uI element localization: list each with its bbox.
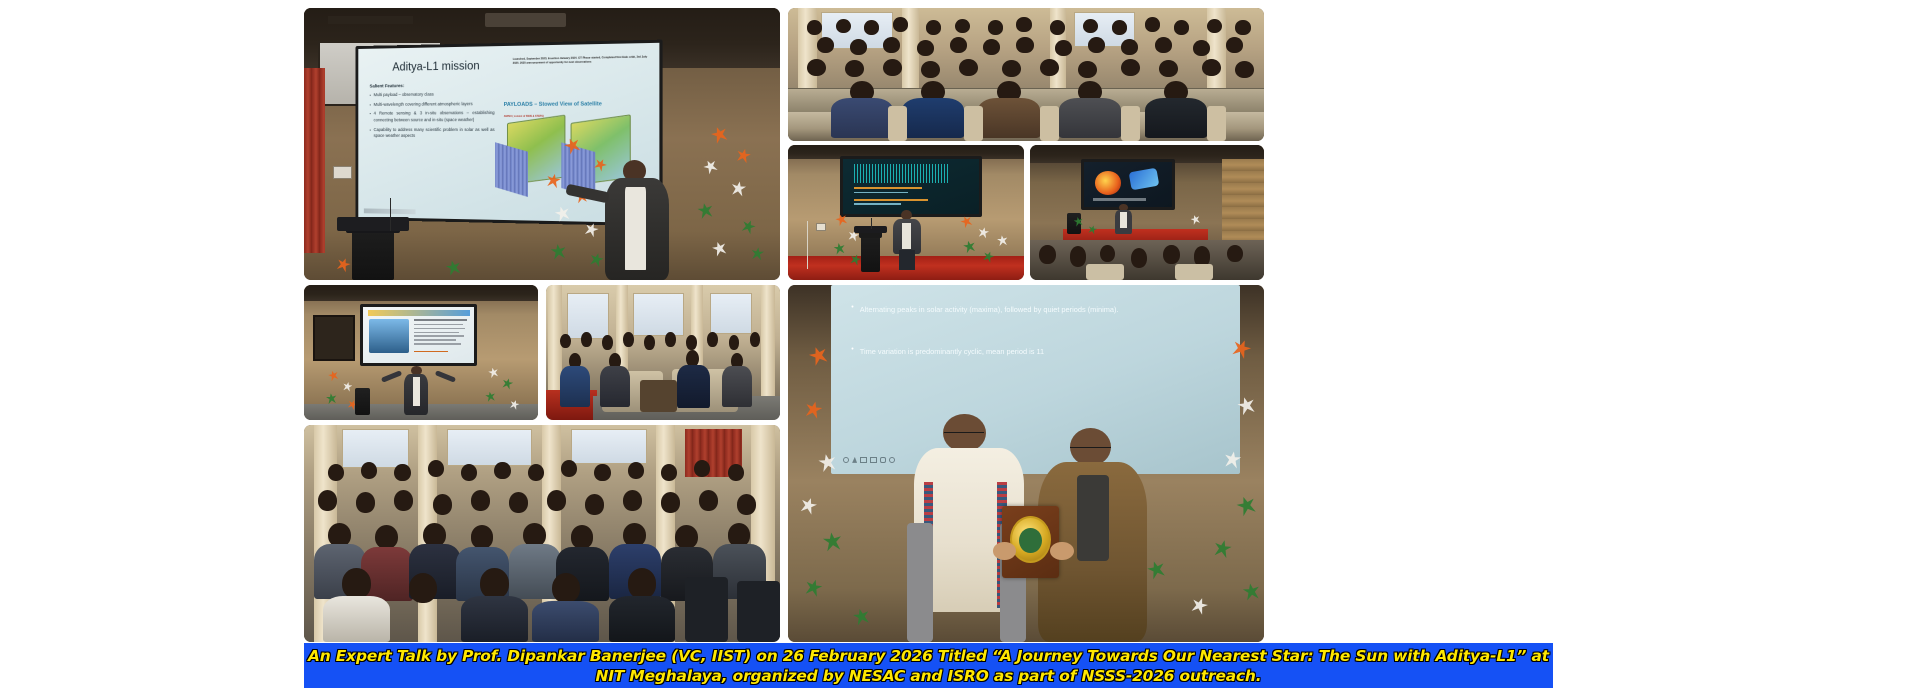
speaker-figure [599,160,675,280]
podium [861,229,880,272]
projection-screen [360,304,477,366]
podium [355,388,369,415]
photo-audience-front-rows-close-view [304,425,780,642]
photo-audience-seated-wide-view [788,8,1264,141]
slide-bullet: Alternating peaks in solar activity (max… [860,304,1119,317]
eyeglasses [1070,447,1111,453]
photo-memento-presentation-handshake: • Alternating peaks in solar activity (m… [788,285,1264,642]
slide-bullet: Time variation is predominantly cyclic, … [860,346,1044,359]
caption-bar: An Expert Talk by Prof. Dipankar Banerje… [304,643,1553,688]
slide-bullet: Capability to address many scientific pr… [374,127,495,140]
slide-bullet: Multi-wavelength covering different atmo… [374,101,473,108]
slide-bullet: 4 Remote sensing & 3 in-situ observation… [374,111,495,125]
projection-screen [840,156,982,217]
slide-note: Launched, September 2023, Insertion Janu… [513,56,650,66]
photo-speaker-on-stage-wide-hall-view [1030,145,1264,280]
photo-speaker-at-podium-with-graph-slide [788,145,1024,280]
eyeglasses [944,432,984,439]
memento-plaque [1002,506,1059,577]
caption-line-1: An Expert Talk by Prof. Dipankar Banerje… [308,646,1549,666]
speaker-figure [398,366,435,415]
speaker-figure [1114,204,1133,234]
speaker-figure [892,210,923,269]
photo-audience-seated-on-sofas [546,285,780,420]
photo-speaker-presenting-aditya-l1-slide: Aditya-L1 mission Launched, September 20… [304,8,780,280]
slide-payload-caption: PAYLOADS – Stowed View of Satellite [504,101,602,108]
slide-title: Aditya-L1 mission [370,60,504,74]
slide-bullet: Multi payload – observatory class [374,92,434,99]
slide-heading: Salient Features: [370,84,405,89]
caption-line-2: NIT Meghalaya, organized by NESAC and IS… [596,666,1262,686]
projection-screen [1081,159,1175,210]
photo-collage: Aditya-L1 mission Launched, September 20… [0,0,1920,696]
photo-speaker-gesturing-at-screen [304,285,538,420]
satellite-solar-panel [495,142,528,197]
taskbar-icon-strip [843,457,895,463]
